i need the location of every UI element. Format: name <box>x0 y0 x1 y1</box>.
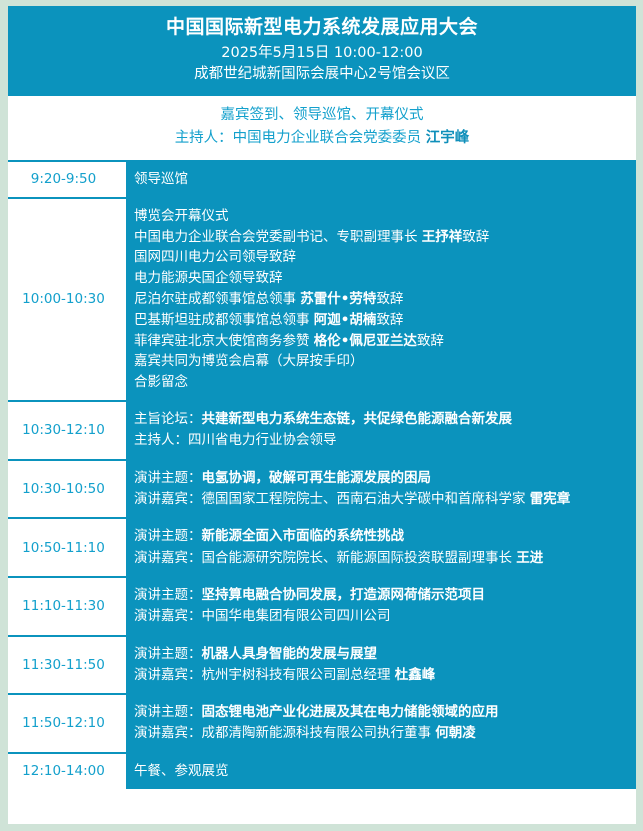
agenda-row: 11:30-11:50演讲主题：机器人具身智能的发展与展望演讲嘉宾：杭州宇树科技… <box>8 637 636 696</box>
conference-datetime: 2025年5月15日 10:00-12:00 <box>18 43 626 65</box>
agenda-emphasis: 杜鑫峰 <box>395 667 436 683</box>
agenda-text: 尼泊尔驻成都领事馆总领事 <box>134 291 300 307</box>
agenda-text: 致辞 <box>376 312 403 328</box>
agenda-line: 电力能源央国企领导致辞 <box>134 268 636 289</box>
agenda-row-content: 主旨论坛：共建新型电力系统生态链，共促绿色能源融合新发展主持人：四川省电力行业协… <box>119 402 636 459</box>
agenda-line: 演讲主题：坚持算电融合协同发展，打造源网荷储示范项目 <box>134 585 636 606</box>
agenda-text: 午餐、参观展览 <box>134 763 229 779</box>
agenda-text: 演讲嘉宾：德国国家工程院院士、西南石油大学碳中和首席科学家 <box>134 491 530 507</box>
agenda-line: 领导巡馆 <box>134 169 636 190</box>
agenda-line: 演讲嘉宾：杭州宇树科技有限公司副总经理 杜鑫峰 <box>134 665 636 686</box>
session-host-prefix: 主持人：中国电力企业联合会党委委员 <box>175 130 426 146</box>
agenda-text: 演讲嘉宾：国合能源研究院院长、新能源国际投资联盟副理事长 <box>134 550 516 566</box>
agenda-emphasis: 坚持算电融合协同发展，打造源网荷储示范项目 <box>202 587 486 603</box>
session-host-line: 主持人：中国电力企业联合会党委委员 江宇峰 <box>18 127 626 150</box>
agenda-text: 博览会开幕仪式 <box>134 208 229 224</box>
agenda-text: 演讲主题： <box>134 587 202 603</box>
agenda-text: 演讲主题： <box>134 528 202 544</box>
agenda-line: 演讲主题：机器人具身智能的发展与展望 <box>134 644 636 665</box>
agenda-text: 演讲主题： <box>134 646 202 662</box>
agenda-row-time: 10:50-11:10 <box>8 519 119 576</box>
agenda-text: 致辞 <box>376 291 403 307</box>
agenda-text: 中国电力企业联合会党委副书记、专职副理事长 <box>134 229 422 245</box>
agenda-row-time: 11:30-11:50 <box>8 637 119 694</box>
agenda-row: 10:50-11:10演讲主题：新能源全面入市面临的系统性挑战演讲嘉宾：国合能源… <box>8 519 636 578</box>
agenda-line: 主持人：四川省电力行业协会领导 <box>134 430 636 451</box>
agenda-line: 合影留念 <box>134 372 636 393</box>
agenda-emphasis: 共建新型电力系统生态链，共促绿色能源融合新发展 <box>202 411 513 427</box>
agenda-row: 12:10-14:00午餐、参观展览 <box>8 754 636 789</box>
agenda-emphasis: 何朝凌 <box>435 725 476 741</box>
agenda-row-content: 演讲主题：新能源全面入市面临的系统性挑战演讲嘉宾：国合能源研究院院长、新能源国际… <box>119 519 636 576</box>
agenda-row-time: 12:10-14:00 <box>8 754 119 789</box>
agenda-line: 国网四川电力公司领导致辞 <box>134 247 636 268</box>
agenda-text: 电力能源央国企领导致辞 <box>134 270 283 286</box>
session-subtitle-band: 嘉宾签到、领导巡馆、开幕仪式 主持人：中国电力企业联合会党委委员 江宇峰 <box>8 96 636 161</box>
agenda-text: 演讲嘉宾：中国华电集团有限公司四川公司 <box>134 608 391 624</box>
agenda-row-content: 演讲主题：机器人具身智能的发展与展望演讲嘉宾：杭州宇树科技有限公司副总经理 杜鑫… <box>119 637 636 694</box>
agenda-line: 演讲主题：新能源全面入市面临的系统性挑战 <box>134 526 636 547</box>
conference-venue: 成都世纪城新国际会展中心2号馆会议区 <box>18 64 626 86</box>
agenda-row-content: 午餐、参观展览 <box>119 754 636 789</box>
agenda-row: 10:00-10:30博览会开幕仪式中国电力企业联合会党委副书记、专职副理事长 … <box>8 199 636 402</box>
agenda-emphasis: 王进 <box>516 550 543 566</box>
agenda-row-time: 10:30-12:10 <box>8 402 119 459</box>
session-subtitle-line: 嘉宾签到、领导巡馆、开幕仪式 <box>18 104 626 127</box>
agenda-row: 10:30-10:50演讲主题：电氢协调，破解可再生能源发展的困局演讲嘉宾：德国… <box>8 461 636 520</box>
agenda-text: 巴基斯坦驻成都领事馆总领事 <box>134 312 314 328</box>
agenda-emphasis: 雷宪章 <box>530 491 571 507</box>
agenda-row-content: 演讲主题：电氢协调，破解可再生能源发展的困局演讲嘉宾：德国国家工程院院士、西南石… <box>119 461 636 518</box>
agenda-row-content: 博览会开幕仪式中国电力企业联合会党委副书记、专职副理事长 王抒祥致辞国网四川电力… <box>119 199 636 400</box>
agenda-line: 演讲嘉宾：德国国家工程院院士、西南石油大学碳中和首席科学家 雷宪章 <box>134 489 636 510</box>
agenda-emphasis: 王抒祥 <box>422 229 463 245</box>
agenda-text: 国网四川电力公司领导致辞 <box>134 249 296 265</box>
agenda-row-time: 10:00-10:30 <box>8 199 119 400</box>
conference-title: 中国国际新型电力系统发展应用大会 <box>18 15 626 41</box>
agenda-line: 演讲嘉宾：成都清陶新能源科技有限公司执行董事 何朝凌 <box>134 723 636 744</box>
session-host-name: 江宇峰 <box>426 130 470 146</box>
agenda-text: 致辞 <box>417 333 444 349</box>
agenda-row-time: 9:20-9:50 <box>8 162 119 197</box>
agenda-emphasis: 阿迦•胡楠 <box>314 312 377 328</box>
agenda-line: 尼泊尔驻成都领事馆总领事 苏雷什•劳特致辞 <box>134 289 636 310</box>
agenda-text: 演讲主题： <box>134 704 202 720</box>
agenda-row-content: 演讲主题：坚持算电融合协同发展，打造源网荷储示范项目演讲嘉宾：中国华电集团有限公… <box>119 578 636 635</box>
agenda-table: 9:20-9:50领导巡馆10:00-10:30博览会开幕仪式中国电力企业联合会… <box>8 162 636 824</box>
agenda-text: 演讲嘉宾：成都清陶新能源科技有限公司执行董事 <box>134 725 435 741</box>
agenda-line: 博览会开幕仪式 <box>134 206 636 227</box>
agenda-line: 中国电力企业联合会党委副书记、专职副理事长 王抒祥致辞 <box>134 227 636 248</box>
agenda-row: 11:10-11:30演讲主题：坚持算电融合协同发展，打造源网荷储示范项目演讲嘉… <box>8 578 636 637</box>
agenda-text: 合影留念 <box>134 374 188 390</box>
agenda-text: 演讲主题： <box>134 470 202 486</box>
agenda-row: 9:20-9:50领导巡馆 <box>8 162 636 199</box>
agenda-text: 致辞 <box>462 229 489 245</box>
agenda-emphasis: 固态锂电池产业化进展及其在电力储能领域的应用 <box>202 704 499 720</box>
agenda-line: 演讲主题：固态锂电池产业化进展及其在电力储能领域的应用 <box>134 702 636 723</box>
agenda-line: 午餐、参观展览 <box>134 761 636 782</box>
agenda-text: 演讲嘉宾：杭州宇树科技有限公司副总经理 <box>134 667 395 683</box>
header-banner: 中国国际新型电力系统发展应用大会 2025年5月15日 10:00-12:00 … <box>8 6 636 96</box>
agenda-row-time: 10:30-10:50 <box>8 461 119 518</box>
agenda-emphasis: 电氢协调，破解可再生能源发展的困局 <box>202 470 432 486</box>
agenda-emphasis: 机器人具身智能的发展与展望 <box>202 646 378 662</box>
agenda-row: 10:30-12:10主旨论坛：共建新型电力系统生态链，共促绿色能源融合新发展主… <box>8 402 636 461</box>
agenda-line: 巴基斯坦驻成都领事馆总领事 阿迦•胡楠致辞 <box>134 310 636 331</box>
agenda-row-content: 演讲主题：固态锂电池产业化进展及其在电力储能领域的应用演讲嘉宾：成都清陶新能源科… <box>119 695 636 752</box>
agenda-line: 演讲嘉宾：国合能源研究院院长、新能源国际投资联盟副理事长 王进 <box>134 548 636 569</box>
agenda-line: 演讲主题：电氢协调，破解可再生能源发展的困局 <box>134 468 636 489</box>
agenda-poster: 中国国际新型电力系统发展应用大会 2025年5月15日 10:00-12:00 … <box>0 0 643 831</box>
agenda-row: 11:50-12:10演讲主题：固态锂电池产业化进展及其在电力储能领域的应用演讲… <box>8 695 636 754</box>
agenda-text: 主持人：四川省电力行业协会领导 <box>134 432 337 448</box>
agenda-sheet: 中国国际新型电力系统发展应用大会 2025年5月15日 10:00-12:00 … <box>8 6 636 824</box>
agenda-line: 主旨论坛：共建新型电力系统生态链，共促绿色能源融合新发展 <box>134 409 636 430</box>
agenda-line: 菲律宾驻北京大使馆商务参赞 格伦•佩尼亚兰达致辞 <box>134 331 636 352</box>
agenda-emphasis: 苏雷什•劳特 <box>300 291 376 307</box>
agenda-line: 演讲嘉宾：中国华电集团有限公司四川公司 <box>134 606 636 627</box>
agenda-emphasis: 新能源全面入市面临的系统性挑战 <box>202 528 405 544</box>
agenda-row-content: 领导巡馆 <box>119 162 636 197</box>
agenda-line: 嘉宾共同为博览会启幕（大屏按手印） <box>134 351 636 372</box>
agenda-text: 领导巡馆 <box>134 171 188 187</box>
agenda-emphasis: 格伦•佩尼亚兰达 <box>314 333 417 349</box>
agenda-row-time: 11:50-12:10 <box>8 695 119 752</box>
agenda-text: 菲律宾驻北京大使馆商务参赞 <box>134 333 314 349</box>
agenda-text: 主旨论坛： <box>134 411 202 427</box>
agenda-text: 嘉宾共同为博览会启幕（大屏按手印） <box>134 353 364 369</box>
agenda-row-time: 11:10-11:30 <box>8 578 119 635</box>
